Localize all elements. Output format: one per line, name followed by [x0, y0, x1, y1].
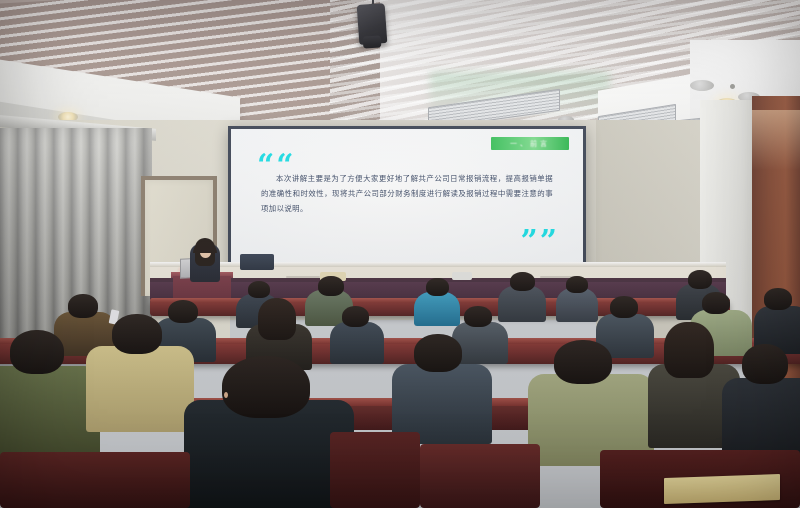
front-counter-top [150, 262, 726, 267]
seat-back [0, 452, 190, 508]
slide-heading-tag: 一、前言 [491, 137, 569, 150]
quote-close-icon: ”” [520, 227, 559, 257]
slide-body-text: 本次讲解主要是为了方便大家更好地了解共产公司日常报销流程，提高报销单据的准确性和… [261, 171, 553, 217]
confidence-monitor [240, 254, 274, 270]
projector-lens-icon [363, 35, 382, 48]
counter-cable [286, 276, 320, 278]
counter-object [452, 272, 472, 280]
seat-back [420, 444, 540, 508]
seat-back [330, 432, 420, 508]
slide-heading-text: 一、前言 [510, 139, 550, 149]
projection-screen: 一、前言 ““ 本次讲解主要是为了方便大家更好地了解共产公司日常报销流程，提高报… [228, 126, 586, 272]
notepad [664, 474, 780, 504]
sprinkler-icon [730, 84, 735, 89]
speaker-icon [690, 80, 714, 91]
conference-room-photo: 一、前言 ““ 本次讲解主要是为了方便大家更好地了解共产公司日常报销流程，提高报… [0, 0, 800, 508]
wood-panel-highlight [752, 110, 800, 170]
